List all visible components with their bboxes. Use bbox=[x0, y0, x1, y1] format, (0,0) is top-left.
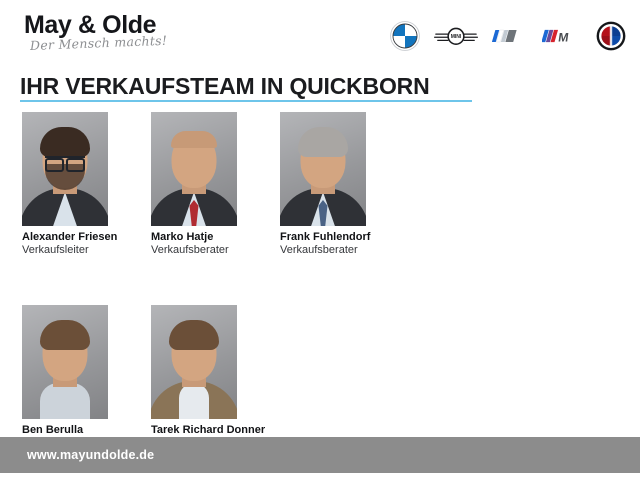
bmw-roundel-logo bbox=[390, 21, 420, 51]
alfa-romeo-logo bbox=[596, 21, 626, 51]
company-logo: May & Olde Der Mensch machts! bbox=[24, 12, 244, 53]
team-member-card: Frank Fuhlendorf Verkaufsberater bbox=[280, 112, 366, 257]
svg-text:MINI: MINI bbox=[451, 34, 462, 40]
member-role: Verkaufsberater bbox=[151, 244, 237, 257]
member-photo bbox=[22, 305, 108, 419]
member-role: Verkaufsberater bbox=[280, 244, 366, 257]
headline-underline bbox=[20, 100, 472, 102]
member-name: Ben Berulla bbox=[22, 424, 108, 437]
member-name: Frank Fuhlendorf bbox=[280, 231, 366, 244]
website-url[interactable]: www.mayundolde.de bbox=[27, 448, 154, 462]
bmw-i-logo: i bbox=[492, 26, 528, 46]
team-member-card: Tarek Richard Donner Junior Verkäufer bbox=[151, 305, 291, 450]
member-photo bbox=[280, 112, 366, 226]
team-member-card: Alexander Friesen Verkaufsleiter bbox=[22, 112, 108, 257]
bmw-m-logo: M bbox=[542, 26, 582, 46]
headline-block: IHR VERKAUFSTEAM IN QUICKBORN bbox=[20, 73, 620, 102]
page-title: IHR VERKAUFSTEAM IN QUICKBORN bbox=[20, 73, 620, 99]
member-photo bbox=[151, 305, 237, 419]
svg-text:i: i bbox=[517, 33, 520, 44]
svg-text:M: M bbox=[557, 31, 569, 45]
member-name: Tarek Richard Donner bbox=[151, 424, 291, 437]
team-member-card: Marko Hatje Verkaufsberater bbox=[151, 112, 237, 257]
team-grid: Alexander Friesen Verkaufsleiter Marko H… bbox=[22, 112, 622, 450]
slide-header: May & Olde Der Mensch machts! bbox=[0, 0, 640, 66]
team-member-card: Ben Berulla Junior Verkäufer bbox=[22, 305, 108, 450]
member-photo bbox=[151, 112, 237, 226]
brand-logo-strip: MINI i bbox=[390, 16, 626, 56]
team-row-1: Alexander Friesen Verkaufsleiter Marko H… bbox=[22, 112, 622, 257]
sales-team-slide: May & Olde Der Mensch machts! bbox=[0, 0, 640, 480]
mini-logo: MINI bbox=[434, 24, 478, 48]
member-role: Verkaufsleiter bbox=[22, 244, 108, 257]
team-row-2: Ben Berulla Junior Verkäufer Tarek Richa… bbox=[22, 305, 622, 450]
slide-footer: www.mayundolde.de bbox=[0, 437, 640, 473]
member-name: Marko Hatje bbox=[151, 231, 237, 244]
member-photo bbox=[22, 112, 108, 226]
member-name: Alexander Friesen bbox=[22, 231, 108, 244]
